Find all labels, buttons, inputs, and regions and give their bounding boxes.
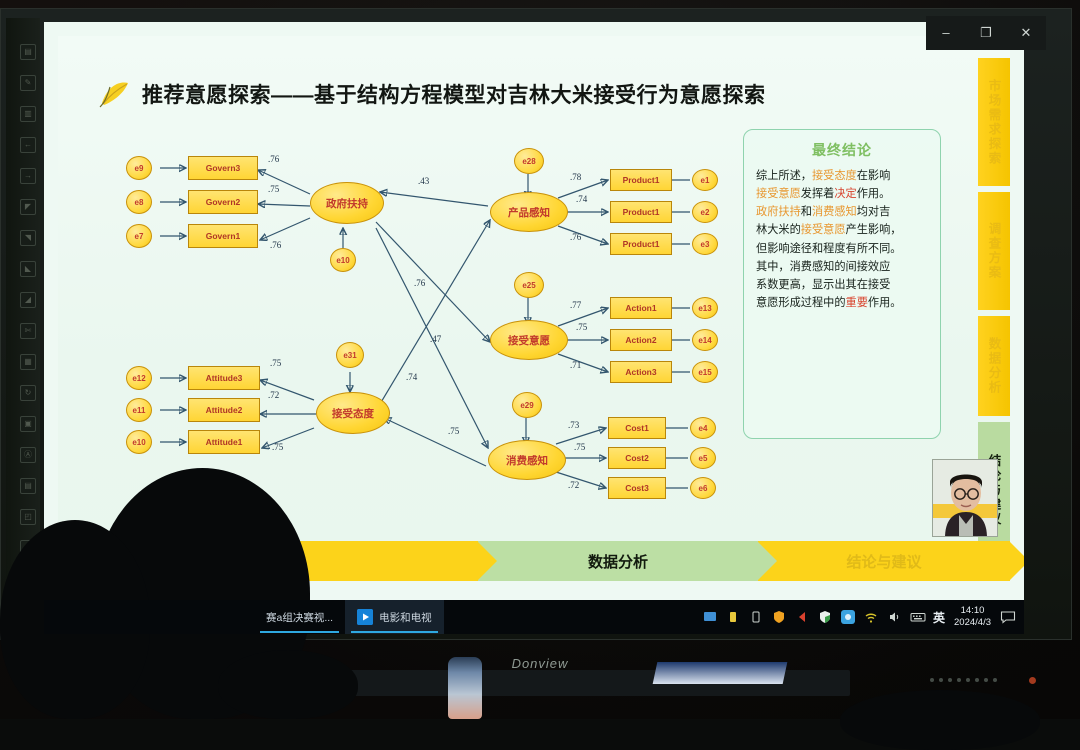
loading-value: .76 [570, 232, 581, 242]
error-node: e7 [126, 224, 152, 248]
error-node: e3 [692, 233, 718, 255]
loading-value: .75 [268, 184, 279, 194]
error-node: e8 [126, 190, 152, 214]
step-analysis[interactable]: 数据分析 [478, 541, 758, 581]
ime-indicator[interactable]: 英 [933, 609, 945, 626]
indicator-box: Product1 [610, 169, 672, 191]
loading-value: .75 [270, 358, 281, 368]
taskbar-item-label: 电影和电视 [379, 610, 432, 625]
status-leds [930, 678, 1010, 684]
windows-taskbar: 赛a组决赛视... 电影和电视 英 14:10 2024/4/3 [44, 600, 1024, 634]
bezel-tool-button[interactable]: ← [20, 137, 36, 153]
bezel-tool-button[interactable]: ↻ [20, 385, 36, 401]
indicator-box: Product1 [610, 233, 672, 255]
bezel-tool-button[interactable]: ▤ [20, 44, 36, 60]
bezel-tool-button[interactable]: Ⓐ [20, 447, 36, 463]
bezel-tool-button[interactable]: ✎ [20, 75, 36, 91]
loading-value: .75 [576, 322, 587, 332]
audience-head [218, 650, 358, 719]
error-node: e15 [692, 361, 718, 383]
indicator-box: Attitude1 [188, 430, 260, 454]
security-green-icon[interactable] [818, 610, 832, 624]
app-blue-icon[interactable] [841, 610, 855, 624]
loading-value: .75 [574, 442, 585, 452]
conclusion-title: 最终结论 [756, 140, 928, 160]
error-node: e4 [690, 417, 716, 439]
usb-icon[interactable] [726, 610, 740, 624]
conclusion-line: 系数更高，显示出其在接受 [756, 276, 928, 294]
path-coefficient: .43 [418, 176, 429, 186]
error-node: e11 [126, 398, 152, 422]
presenter-video-thumbnail[interactable] [932, 459, 998, 537]
maximize-button[interactable]: ❐ [969, 16, 1003, 50]
error-node: e25 [514, 272, 544, 298]
volume-red-icon[interactable] [795, 610, 809, 624]
conclusion-line: 其中，消费感知的间接效应 [756, 258, 928, 276]
minimize-button[interactable]: – [929, 16, 963, 50]
path-coefficient: .47 [430, 334, 441, 344]
display-icon[interactable] [703, 610, 717, 624]
indicator-box: Product1 [610, 201, 672, 223]
bezel-tool-button[interactable]: ◢ [20, 292, 36, 308]
latent-node-product: 产品感知 [490, 192, 568, 232]
binder-on-desk [653, 662, 788, 684]
keyboard-icon[interactable] [910, 610, 924, 624]
loading-value: .75 [272, 442, 283, 452]
loading-value: .76 [270, 240, 281, 250]
loading-value: .76 [268, 154, 279, 164]
error-node: e10 [330, 248, 356, 272]
bezel-tool-button[interactable]: ▦ [20, 354, 36, 370]
audience-head [840, 690, 1040, 750]
speaker-icon[interactable] [887, 610, 901, 624]
error-node: e5 [690, 447, 716, 469]
path-coefficient: .76 [414, 278, 425, 288]
conclusion-line: 政府扶持和消费感知均对吉 [756, 203, 928, 221]
latent-node-intention: 接受意愿 [490, 320, 568, 360]
taskbar-item-movies-tv[interactable]: 电影和电视 [345, 600, 444, 634]
step-conclusion[interactable]: 结论与建议 [758, 541, 1010, 581]
battery-icon[interactable] [749, 610, 763, 624]
bezel-tool-button[interactable]: ◣ [20, 261, 36, 277]
loading-value: .74 [576, 194, 587, 204]
indicator-box: Cost1 [608, 417, 666, 439]
error-node: e10 [126, 430, 152, 454]
close-button[interactable]: ✕ [1009, 16, 1043, 50]
latent-node-govern: 政府扶持 [310, 182, 384, 224]
window-controls: – ❐ ✕ [926, 16, 1046, 50]
clock-time: 14:10 [961, 605, 985, 616]
clock[interactable]: 14:10 2024/4/3 [954, 605, 991, 629]
system-tray: 英 14:10 2024/4/3 [703, 605, 1024, 629]
page-title: 推荐意愿探索——基于结构方程模型对吉林大米接受行为意愿探索 [142, 79, 766, 109]
slide-title-row: 推荐意愿探索——基于结构方程模型对吉林大米接受行为意愿探索 [98, 74, 898, 114]
chat-bubble-icon[interactable] [1000, 610, 1014, 624]
latent-node-attitude: 接受态度 [316, 392, 390, 434]
sidebar-item-analysis[interactable]: 数据分析 [978, 316, 1010, 416]
error-node: e6 [690, 477, 716, 499]
indicator-box: Attitude2 [188, 398, 260, 422]
power-led [1029, 677, 1036, 684]
error-node: e31 [336, 342, 364, 368]
indicator-box: Action2 [610, 329, 672, 351]
leaf-decoration-icon [98, 77, 132, 111]
bezel-tool-button[interactable]: ✄ [20, 323, 36, 339]
water-bottle [448, 657, 482, 719]
indicator-box: Cost3 [608, 477, 666, 499]
loading-value: .72 [568, 480, 579, 490]
indicator-box: Action3 [610, 361, 672, 383]
error-node: e12 [126, 366, 152, 390]
path-coefficient: .74 [406, 372, 417, 382]
loading-value: .73 [568, 420, 579, 430]
indicator-box: Cost2 [608, 447, 666, 469]
error-node: e14 [692, 329, 718, 351]
indicator-box: Govern1 [188, 224, 258, 248]
sidebar-item-market[interactable]: 市场需求探索 [978, 58, 1010, 186]
conclusion-line: 综上所述，接受态度在影响 [756, 167, 928, 185]
indicator-box: Action1 [610, 297, 672, 319]
conclusion-body: 综上所述，接受态度在影响 接受意愿发挥着决定作用。 政府扶持和消费感知均对吉 林… [756, 167, 928, 312]
error-node: e1 [692, 169, 718, 191]
conclusion-line: 林大米的接受意愿产生影响， [756, 221, 928, 239]
error-node: e29 [512, 392, 542, 418]
bezel-tool-button[interactable]: ◥ [20, 230, 36, 246]
error-node: e2 [692, 201, 718, 223]
bezel-tool-button[interactable]: ▣ [20, 416, 36, 432]
movies-tv-icon [357, 609, 373, 625]
conclusion-line: 接受意愿发挥着决定作用。 [756, 185, 928, 203]
bezel-tool-button[interactable]: ◰ [20, 509, 36, 525]
conclusion-panel: 最终结论 综上所述，接受态度在影响 接受意愿发挥着决定作用。 政府扶持和消费感知… [743, 129, 941, 439]
taskbar-item-video[interactable]: 赛a组决赛视... [254, 600, 345, 634]
bezel-tool-button[interactable]: → [20, 168, 36, 184]
taskbar-item-label: 赛a组决赛视... [266, 610, 333, 625]
conclusion-line: 但影响途径和程度有所不同。 [756, 240, 928, 258]
error-node: e9 [126, 156, 152, 180]
error-node: e13 [692, 297, 718, 319]
shield-orange-icon[interactable] [772, 610, 786, 624]
loading-value: .77 [570, 300, 581, 310]
indicator-box: Attitude3 [188, 366, 260, 390]
loading-value: .78 [570, 172, 581, 182]
wifi-icon[interactable] [864, 610, 878, 624]
path-coefficient: .75 [448, 426, 459, 436]
bezel-tool-button[interactable]: ◤ [20, 199, 36, 215]
sidebar-item-plan[interactable]: 调查方案 [978, 192, 1010, 310]
loading-value: .71 [570, 360, 581, 370]
error-node: e28 [514, 148, 544, 174]
bezel-tool-button[interactable]: ▤ [20, 478, 36, 494]
conclusion-line: 意愿形成过程中的重要作用。 [756, 294, 928, 312]
clock-date: 2024/4/3 [954, 617, 991, 628]
bezel-tool-button[interactable]: ▥ [20, 106, 36, 122]
indicator-box: Govern2 [188, 190, 258, 214]
latent-node-consume: 消费感知 [488, 440, 566, 480]
indicator-box: Govern3 [188, 156, 258, 180]
loading-value: .72 [268, 390, 279, 400]
